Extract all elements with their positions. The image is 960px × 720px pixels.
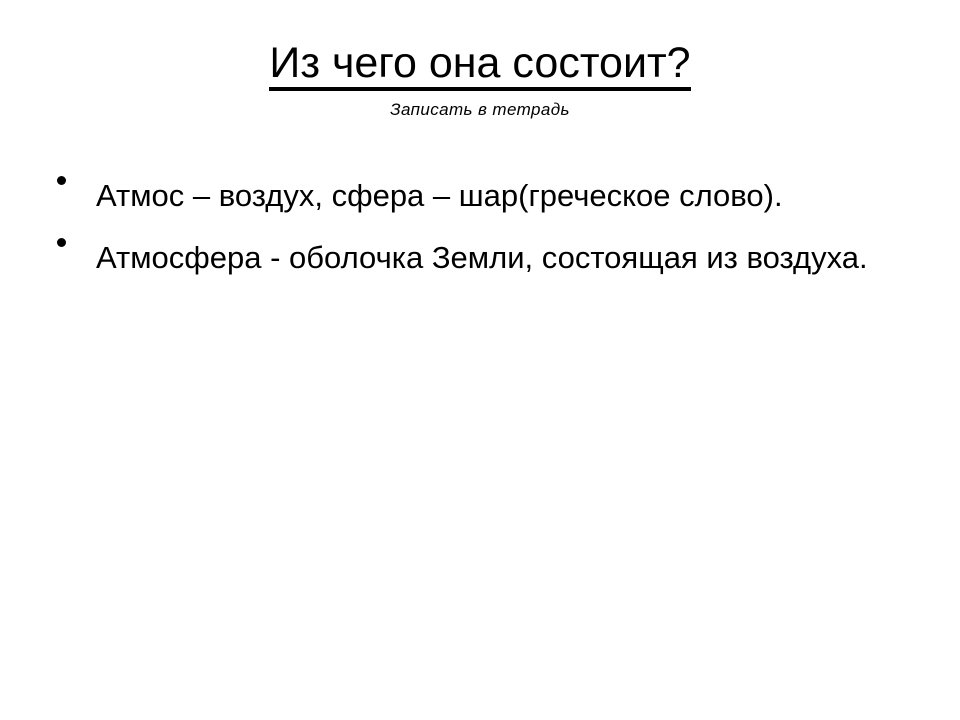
list-item: Атмос – воздух, сфера – шар(греческое сл… <box>48 176 920 216</box>
page-subtitle: Записать в тетрадь <box>0 101 960 120</box>
slide-canvas: Из чего она состоит? Записать в тетрадь … <box>0 0 960 720</box>
list-item-text: Атмосфера - оболочка Земли, состоящая из… <box>96 238 920 278</box>
page-title: Из чего она состоит? <box>269 40 690 91</box>
list-item-text: Атмос – воздух, сфера – шар(греческое сл… <box>96 176 920 216</box>
bullet-dot-icon <box>57 176 66 185</box>
list-item: Атмосфера - оболочка Земли, состоящая из… <box>48 238 920 278</box>
bullet-list: Атмос – воздух, сфера – шар(греческое сл… <box>48 176 920 279</box>
bullet-dot-icon <box>57 238 66 247</box>
title-block: Из чего она состоит? Записать в тетрадь <box>0 40 960 120</box>
